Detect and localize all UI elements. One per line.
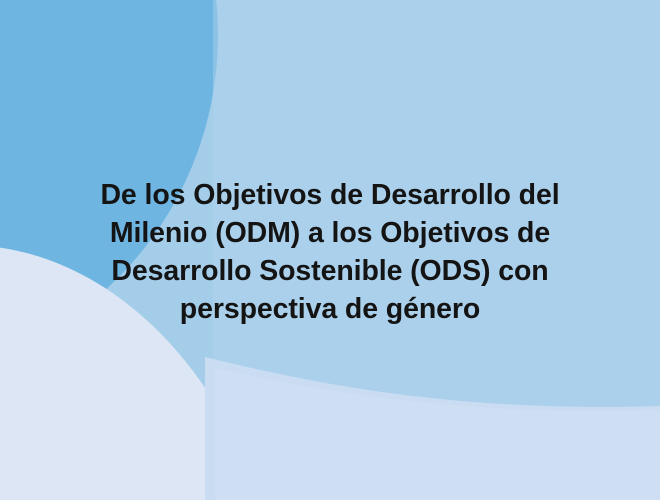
slide-title: De los Objetivos de Desarrollo del Milen… <box>0 176 660 328</box>
slide-title-line-2: Milenio (ODM) a los Objetivos de <box>22 214 638 252</box>
slide-title-line-3: Desarrollo Sostenible (ODS) con <box>22 252 638 290</box>
slide-title-line-4: perspectiva de género <box>22 290 638 328</box>
presentation-slide: De los Objetivos de Desarrollo del Milen… <box>0 0 660 500</box>
slide-title-line-1: De los Objetivos de Desarrollo del <box>22 176 638 214</box>
